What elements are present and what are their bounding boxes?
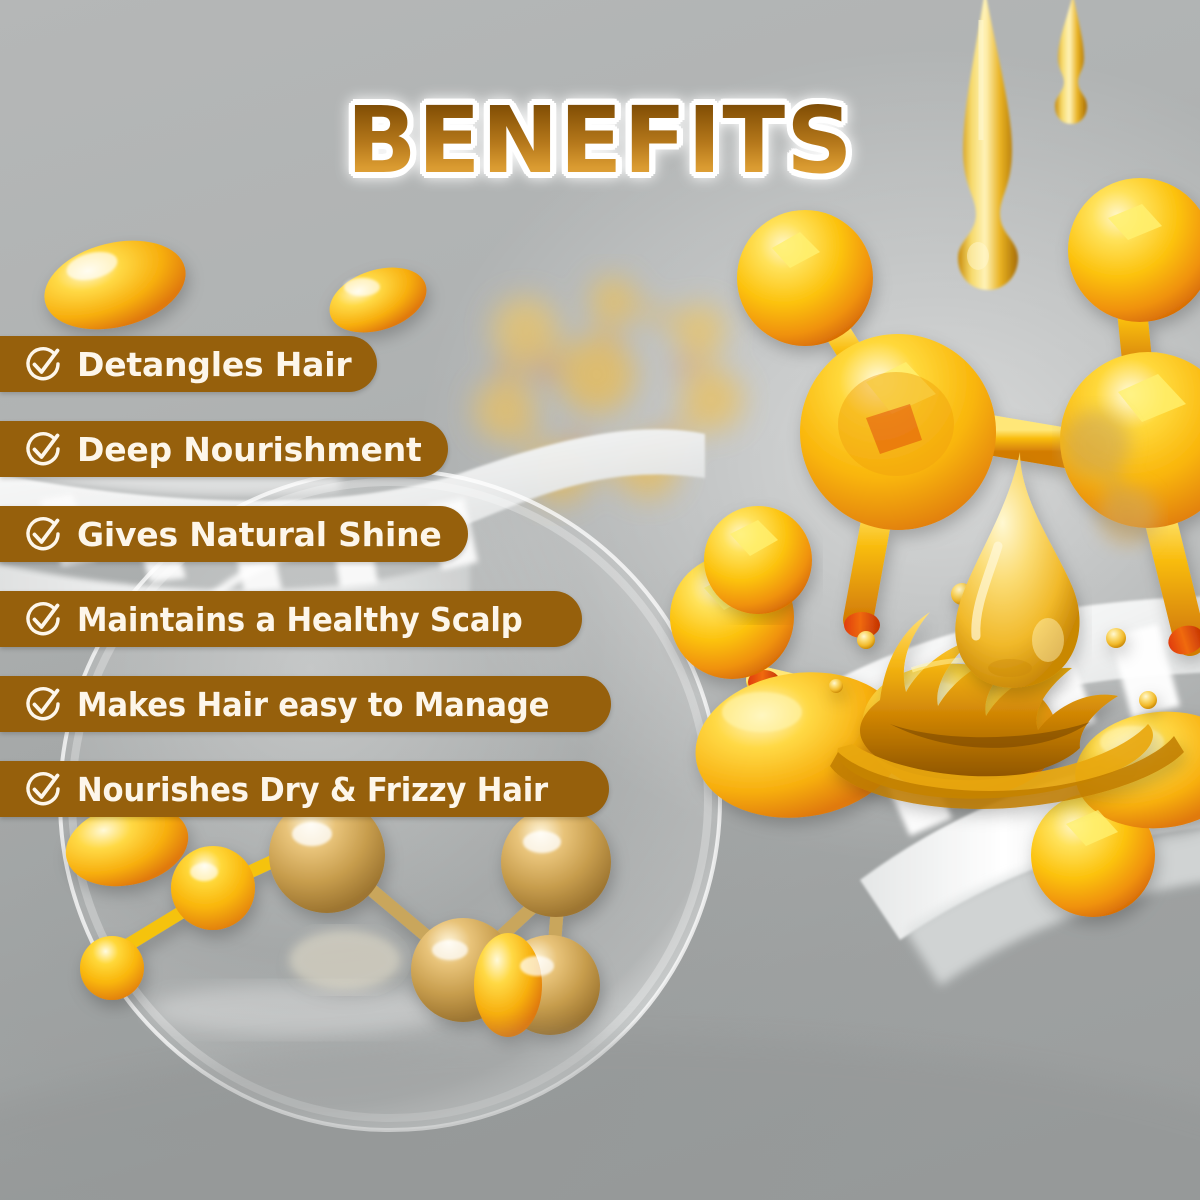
benefit-item-maintains-a-healthy-scalp[interactable]: Maintains a Healthy Scalp xyxy=(0,591,582,647)
benefit-label: Makes Hair easy to Manage xyxy=(77,688,549,721)
oil-drip-icon xyxy=(958,0,1087,290)
benefit-label: Detangles Hair xyxy=(77,348,351,381)
benefit-item-nourishes-dry-frizzy-hair[interactable]: Nourishes Dry & Frizzy Hair xyxy=(0,761,609,817)
benefit-label: Gives Natural Shine xyxy=(77,518,442,551)
circle-check-icon xyxy=(22,683,64,725)
circle-check-icon xyxy=(22,598,64,640)
circle-check-icon xyxy=(22,343,64,385)
benefit-label: Maintains a Healthy Scalp xyxy=(77,603,522,636)
circle-check-icon xyxy=(22,428,64,470)
oil-capsule-topleft-icon xyxy=(35,227,435,344)
benefit-label: Deep Nourishment xyxy=(77,433,422,466)
benefit-item-deep-nourishment[interactable]: Deep Nourishment xyxy=(0,421,448,477)
circle-check-icon xyxy=(22,768,64,810)
benefits-poster: BENEFITS Detangles Hair Deep Nourishment… xyxy=(0,0,1200,1200)
benefit-item-detangles-hair[interactable]: Detangles Hair xyxy=(0,336,377,392)
circle-check-icon xyxy=(22,513,64,555)
benefit-item-gives-natural-shine[interactable]: Gives Natural Shine xyxy=(0,506,468,562)
benefits-list: Detangles Hair Deep Nourishment Gives Na… xyxy=(0,336,760,846)
benefit-label: Nourishes Dry & Frizzy Hair xyxy=(77,773,548,806)
benefit-item-makes-hair-easy-to-manage[interactable]: Makes Hair easy to Manage xyxy=(0,676,611,732)
